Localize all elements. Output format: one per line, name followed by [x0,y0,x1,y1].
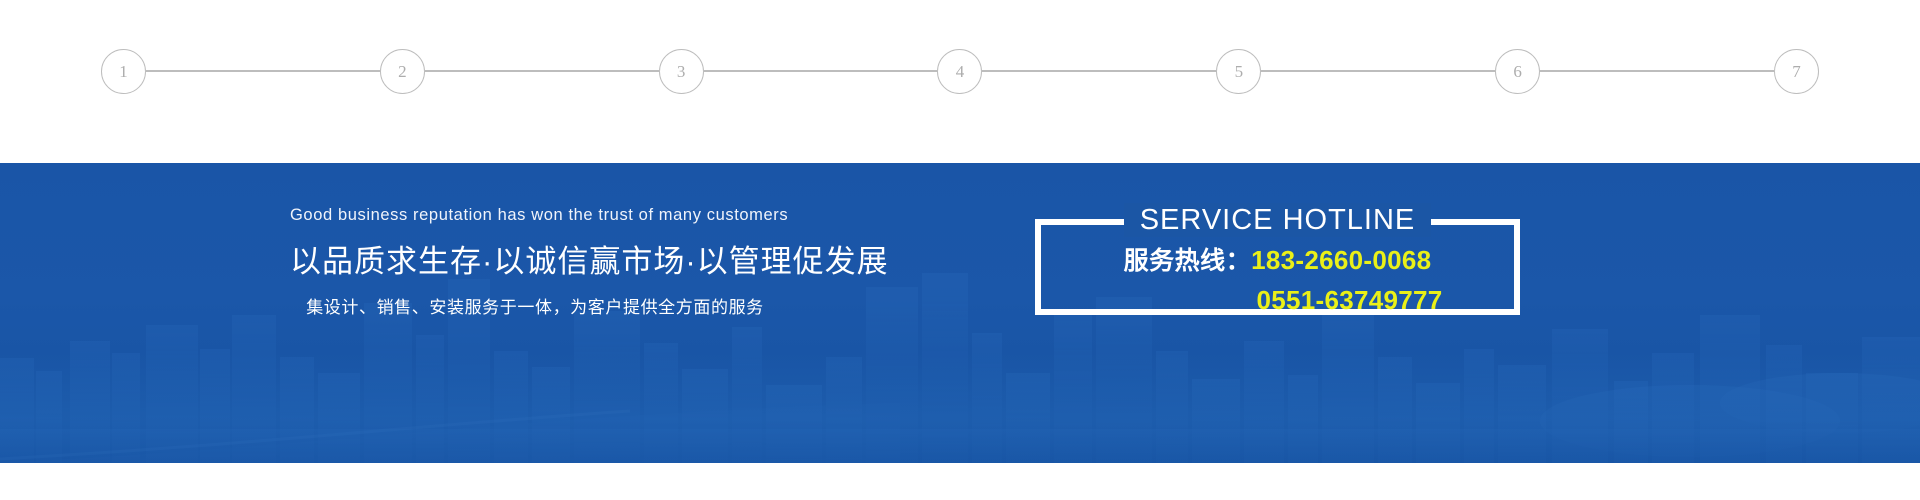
hotline-title: SERVICE HOTLINE [1124,203,1432,237]
step-node-6[interactable]: 6 [1495,49,1540,94]
step-connector-line [146,70,380,72]
pagination-stepper: 1 2 3 4 5 6 7 [101,48,1819,94]
step-node-label: 3 [677,63,686,80]
hotline-row-secondary: 0551-63749777 [1035,287,1520,313]
step-node-label: 1 [119,63,128,80]
step-node-2[interactable]: 2 [380,49,425,94]
slogan-subline: 集设计、销售、安装服务于一体，为客户提供全方面的服务 [290,299,780,316]
slogan-english-line: Good business reputation has won the tru… [290,207,780,224]
cityscape-background-image [0,253,1920,463]
hotline-number-landline[interactable]: 0551-63749777 [1256,287,1442,313]
page-root: 1 2 3 4 5 6 7 [0,0,1920,500]
hotline-title-wrap: SERVICE HOTLINE [1035,203,1520,237]
step-node-label: 7 [1792,63,1801,80]
step-node-label: 6 [1513,63,1522,80]
step-node-4[interactable]: 4 [937,49,982,94]
step-node-label: 2 [398,63,407,80]
step-node-label: 4 [956,63,965,80]
step-connector-line [1261,70,1495,72]
step-node-3[interactable]: 3 [659,49,704,94]
step-node-label: 5 [1235,63,1244,80]
service-hotline-block: SERVICE HOTLINE 服务热线： 183-2660-0068 0551… [1035,203,1520,315]
slogan-block: Good business reputation has won the tru… [290,207,780,316]
blue-promo-banner: Good business reputation has won the tru… [0,163,1920,463]
step-connector-line [1540,70,1774,72]
hotline-body: 服务热线： 183-2660-0068 0551-63749777 [1035,247,1520,313]
hotline-row-primary: 服务热线： 183-2660-0068 [1035,247,1520,274]
step-connector-line [425,70,659,72]
footer-white-space [0,463,1920,500]
hotline-label: 服务热线： [1124,249,1252,274]
step-node-7[interactable]: 7 [1774,49,1819,94]
step-node-1[interactable]: 1 [101,49,146,94]
hotline-number-mobile[interactable]: 183-2660-0068 [1251,247,1431,273]
stepper-strip: 1 2 3 4 5 6 7 [0,0,1920,163]
step-connector-line [704,70,938,72]
step-connector-line [982,70,1216,72]
step-node-5[interactable]: 5 [1216,49,1261,94]
slogan-headline: 以品质求生存·以诚信赢市场·以管理促发展 [290,246,780,277]
